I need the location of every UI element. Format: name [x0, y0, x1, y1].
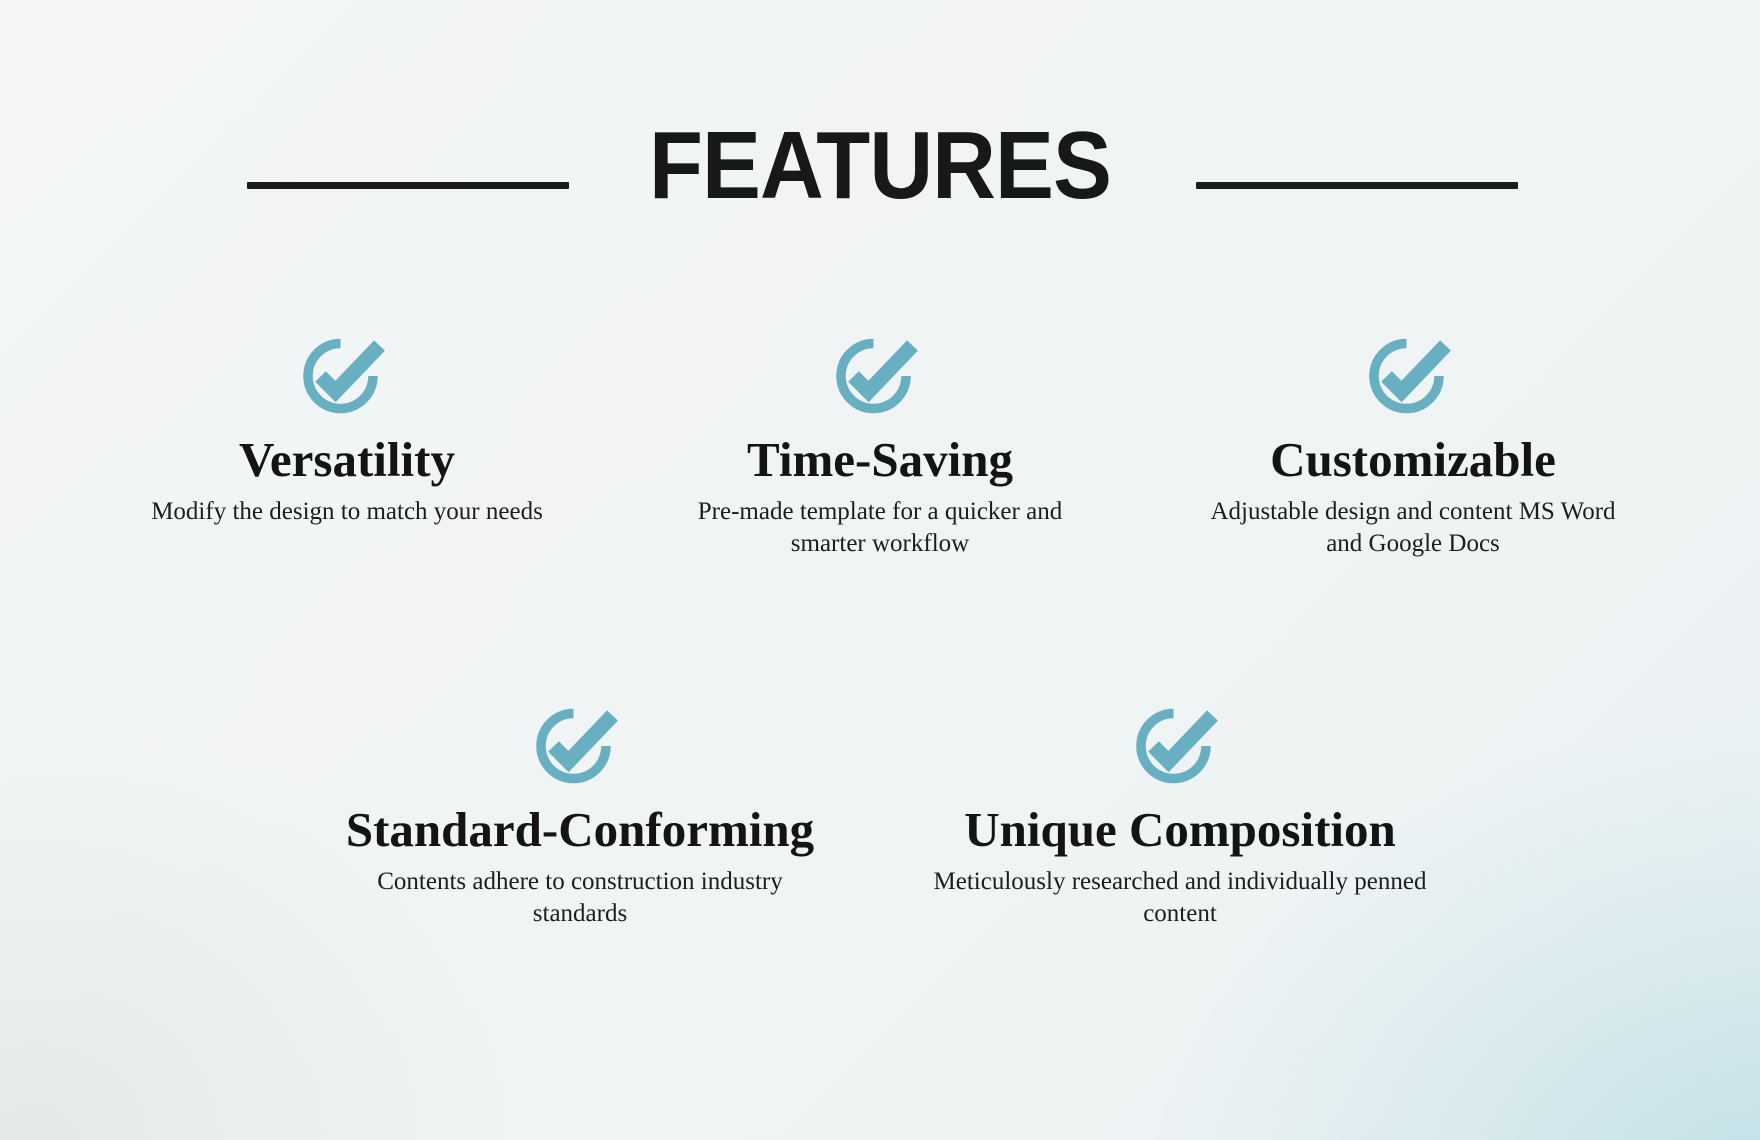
- feature-description: Pre-made template for a quicker and smar…: [670, 496, 1090, 560]
- features-row-bottom: Standard-Conforming Contents adhere to c…: [0, 700, 1760, 930]
- feature-description: Contents adhere to construction industry…: [330, 866, 830, 930]
- feature-title: Time-Saving: [747, 432, 1013, 488]
- feature-item-customizable: Customizable Adjustable design and conte…: [1147, 330, 1680, 560]
- feature-title: Standard-Conforming: [346, 802, 814, 858]
- feature-item-standard-conforming: Standard-Conforming Contents adhere to c…: [280, 700, 880, 930]
- check-circle-icon: [1126, 700, 1234, 792]
- check-circle-icon: [293, 330, 401, 422]
- check-circle-icon: [526, 700, 634, 792]
- features-slide: FEATURES Versatility Modify the design t…: [0, 0, 1760, 1140]
- features-row-top: Versatility Modify the design to match y…: [0, 330, 1760, 560]
- feature-description: Adjustable design and content MS Word an…: [1203, 496, 1623, 560]
- feature-description: Modify the design to match your needs: [151, 496, 543, 528]
- check-circle-icon: [1359, 330, 1467, 422]
- feature-item-versatility: Versatility Modify the design to match y…: [81, 330, 614, 560]
- page-title: FEATURES: [70, 114, 1689, 218]
- feature-title: Customizable: [1270, 432, 1556, 488]
- feature-title: Versatility: [239, 432, 455, 488]
- feature-item-time-saving: Time-Saving Pre-made template for a quic…: [614, 330, 1147, 560]
- feature-item-unique-composition: Unique Composition Meticulously research…: [880, 700, 1480, 930]
- feature-title: Unique Composition: [964, 802, 1396, 858]
- feature-description: Meticulously researched and individually…: [930, 866, 1430, 930]
- header-rule-right: [1196, 182, 1518, 189]
- check-circle-icon: [826, 330, 934, 422]
- slide-header: FEATURES: [0, 108, 1760, 218]
